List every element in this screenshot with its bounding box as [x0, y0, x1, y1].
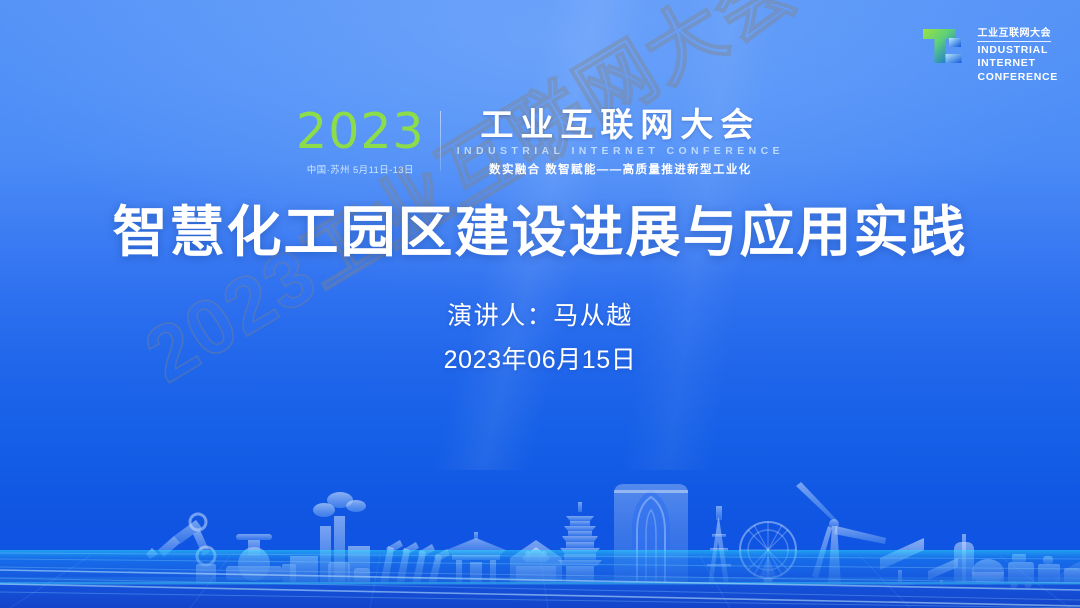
wordmark-place-date: 中国·苏州 5月11日-13日 — [296, 162, 425, 176]
perspective-ground-grid — [0, 550, 1080, 608]
wordmark-slogan: 数实融合 数智赋能——高质量推进新型工业化 — [457, 161, 784, 177]
industrial-internet-conference-t-mark — [920, 22, 968, 70]
corner-logo-en-line1: INDUSTRIAL — [977, 44, 1058, 57]
corner-logo-cn-name: 工业互联网大会 — [977, 28, 1051, 42]
corner-logo-en-line3: CONFERENCE — [977, 71, 1058, 84]
conference-wordmark: 2023 中国·苏州 5月11日-13日 工业互联网大会 INDUSTRIAL … — [0, 108, 1080, 177]
wordmark-year: 2023 — [296, 108, 425, 155]
corner-logo-en-line2: INTERNET — [977, 57, 1058, 70]
wordmark-en-title: INDUSTRIAL INTERNET CONFERENCE — [457, 145, 784, 157]
presenter-name: 演讲人：马从越 — [0, 298, 1080, 336]
wordmark-cn-title: 工业互联网大会 — [457, 108, 784, 142]
presenter-block: 演讲人：马从越 2023年06月15日 — [0, 298, 1080, 379]
presentation-date: 2023年06月15日 — [0, 342, 1080, 380]
presentation-slide: 2023工业互联网大会 工业互联网大会 INDUSTRIAL — [0, 0, 1080, 608]
corner-logo: 工业互联网大会 INDUSTRIAL INTERNET CONFERENCE — [920, 22, 1058, 84]
slide-title: 智慧化工园区建设进展与应用实践 — [0, 202, 1080, 264]
